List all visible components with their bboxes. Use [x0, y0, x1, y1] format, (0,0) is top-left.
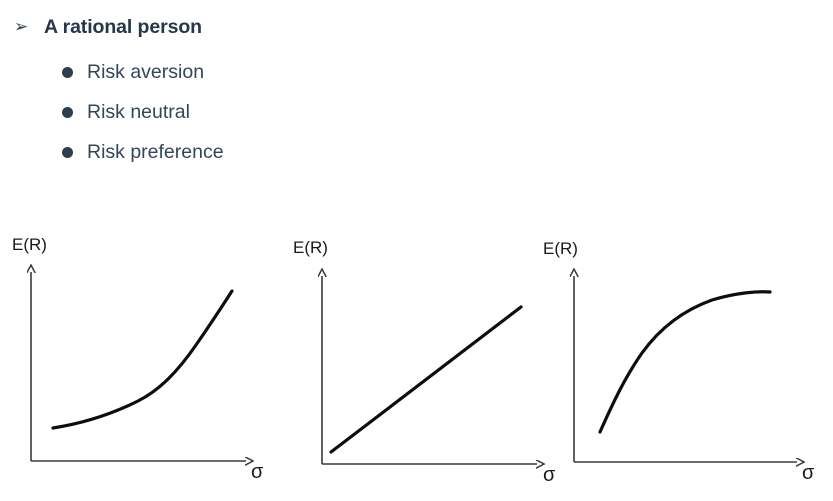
y-axis-title: E(R) [293, 238, 328, 257]
risk-preference-curve [600, 292, 770, 432]
risk-aversion-chart: E(R) σ [12, 235, 264, 483]
x-axis-title: σ [251, 461, 264, 483]
risk-neutral-chart: E(R) σ [293, 238, 556, 486]
risk-aversion-curve [53, 291, 232, 428]
risk-preference-chart: E(R) σ [543, 239, 815, 484]
x-axis-title: σ [543, 464, 556, 486]
x-axis-title: σ [802, 462, 815, 484]
charts-row: E(R) σ E(R) σ E(R) σ [0, 0, 833, 501]
y-axis-title: E(R) [12, 235, 47, 254]
risk-neutral-line [331, 307, 521, 452]
y-axis-title: E(R) [543, 239, 578, 258]
